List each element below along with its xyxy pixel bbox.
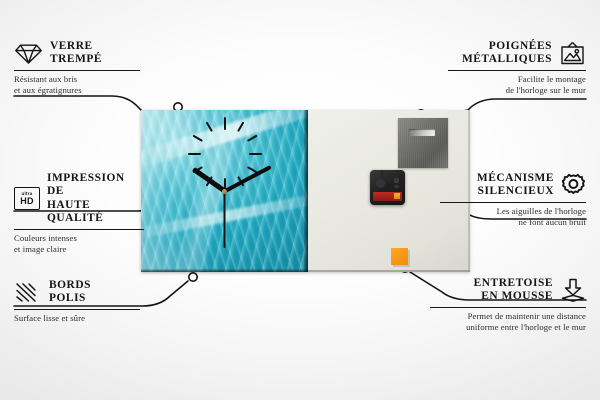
metal-hanger-plate — [398, 118, 448, 168]
clock-face-product — [141, 110, 308, 272]
mechanism-dial-3 — [394, 185, 399, 188]
diamond-icon — [14, 42, 43, 65]
wall-mount-frame-icon — [559, 41, 586, 65]
feature-subtitle: Facilite le montage de l'horloge sur le … — [448, 74, 586, 95]
ultra-hd-badge-icon: ultra HD — [14, 187, 40, 210]
battery-plus-terminal — [394, 193, 400, 199]
feature-verre-trempe: VERRE TREMPÉ Résistant aux bris et aux é… — [14, 40, 140, 96]
mechanism-hang-loop — [381, 170, 398, 178]
feature-title: BORDS POLIS — [49, 279, 91, 306]
feature-divider — [448, 70, 586, 71]
feature-header: POIGNÉES MÉTALLIQUES — [448, 40, 586, 67]
feature-poignees-metalliques: POIGNÉES MÉTALLIQUES Facilite le montage… — [448, 40, 586, 96]
clock-second-hand — [224, 191, 226, 248]
feature-header: BORDS POLIS — [14, 279, 140, 306]
clock-bottom-edge — [141, 269, 308, 272]
mechanism-dial-2 — [394, 178, 399, 183]
foam-spacer-pad — [391, 248, 408, 265]
feature-header: ENTRETOISE EN MOUSSE — [430, 277, 586, 304]
feature-title: POIGNÉES MÉTALLIQUES — [462, 40, 552, 67]
feature-subtitle: Surface lisse et sûre — [14, 313, 140, 324]
foam-spacer-arrow-icon — [560, 278, 586, 303]
feature-subtitle: Résistant aux bris et aux égratignures — [14, 74, 140, 95]
clock-minute-hand — [224, 165, 272, 193]
gear-icon — [561, 173, 586, 198]
feature-title: ENTRETOISE EN MOUSSE — [474, 277, 553, 304]
clock-center-cap — [222, 189, 227, 194]
feature-subtitle: Les aiguilles de l'horloge ne font aucun… — [440, 206, 586, 227]
feature-title: VERRE TREMPÉ — [50, 40, 102, 67]
feature-divider — [440, 202, 586, 203]
feature-divider — [14, 309, 140, 310]
mechanism-dial-1 — [376, 179, 385, 188]
battery — [373, 192, 402, 201]
back-panel-bottom-edge — [308, 270, 470, 272]
feature-bords-polis: BORDS POLIS Surface lisse et sûre — [14, 279, 140, 324]
feature-mecanisme-silencieux: MÉCANISME SILENCIEUX Les aiguilles de l'… — [440, 172, 586, 228]
feature-entretoise-en-mousse: ENTRETOISE EN MOUSSE Permet de maintenir… — [430, 277, 586, 333]
hanger-slot — [409, 129, 435, 136]
feature-header: MÉCANISME SILENCIEUX — [440, 172, 586, 199]
feature-header: VERRE TREMPÉ — [14, 40, 140, 67]
feature-title: MÉCANISME SILENCIEUX — [477, 172, 554, 199]
feature-subtitle: Couleurs intenses et image claire — [14, 233, 144, 254]
feature-subtitle: Permet de maintenir une distance uniform… — [430, 311, 586, 332]
feature-header: ultra HD IMPRESSION DE HAUTE QUALITÉ — [14, 172, 144, 226]
feature-divider — [430, 307, 586, 308]
infographic-canvas: VERRE TREMPÉ Résistant aux bris et aux é… — [0, 0, 600, 400]
clock-mechanism-module — [370, 170, 405, 205]
feature-divider — [14, 70, 140, 71]
node-bords-polis — [189, 273, 197, 281]
polished-edge-lines-icon — [14, 281, 42, 304]
feature-divider — [14, 229, 144, 230]
feature-title: IMPRESSION DE HAUTE QUALITÉ — [47, 172, 144, 226]
feature-impression-haute-qualite: ultra HD IMPRESSION DE HAUTE QUALITÉ Cou… — [14, 172, 144, 254]
